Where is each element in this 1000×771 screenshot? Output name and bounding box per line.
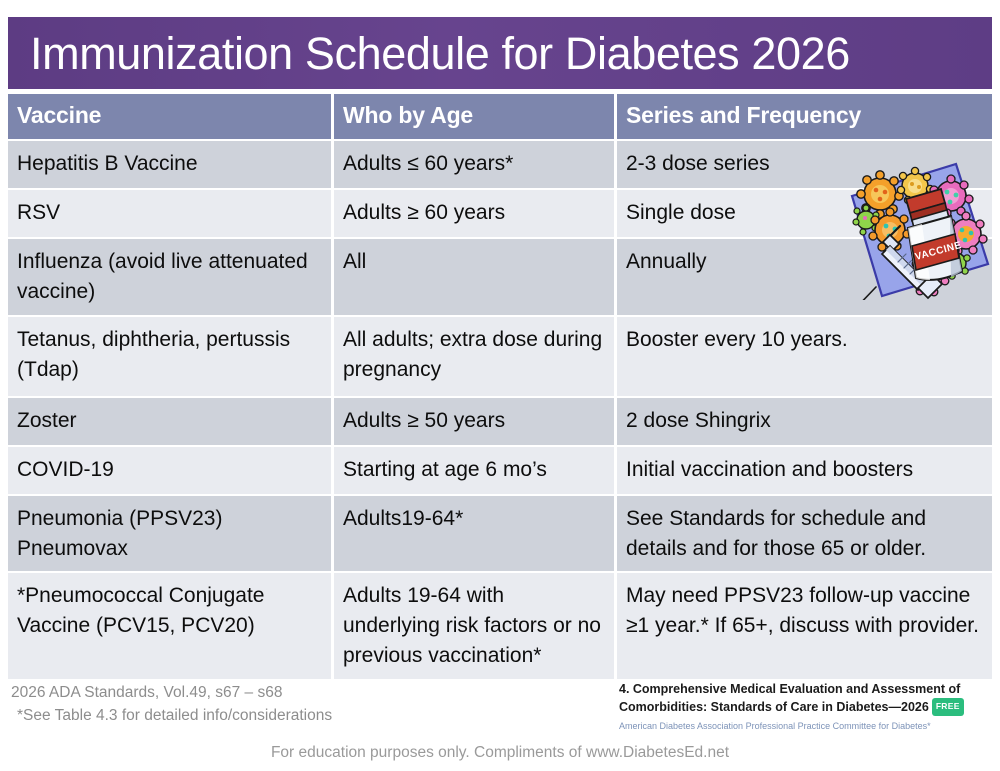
cell-series-and-frequency: See Standards for schedule and details a… xyxy=(617,496,992,571)
cell-vaccine: *Pneumococcal Conjugate Vaccine (PCV15, … xyxy=(8,573,331,679)
cell-vaccine: Zoster xyxy=(8,398,331,445)
cell-vaccine: Influenza (avoid live attenuated vaccine… xyxy=(8,239,331,315)
column-header-who-by-age: Who by Age xyxy=(334,94,614,139)
table-row: Hepatitis B Vaccine Adults ≤ 60 years* 2… xyxy=(8,141,992,188)
immunization-schedule-table: Vaccine Who by Age Series and Frequency … xyxy=(8,94,992,681)
free-badge: FREE xyxy=(932,698,964,716)
ada-reference-title: 4. Comprehensive Medical Evaluation and … xyxy=(619,682,994,716)
cell-who-by-age: Adults 19-64 with underlying risk factor… xyxy=(334,573,614,679)
ada-reference-authors: American Diabetes Association Profession… xyxy=(619,721,994,732)
cell-series-and-frequency: 2-3 dose series xyxy=(617,141,992,188)
cell-who-by-age: Adults19-64* xyxy=(334,496,614,571)
cell-who-by-age: All xyxy=(334,239,614,315)
table-row: Pneumonia (PPSV23) Pneumovax Adults19-64… xyxy=(8,496,992,571)
footer-citation: 2026 ADA Standards, Vol.49, s67 – s68 *S… xyxy=(11,681,332,727)
cell-vaccine: Hepatitis B Vaccine xyxy=(8,141,331,188)
ada-reference-title-text: 4. Comprehensive Medical Evaluation and … xyxy=(619,682,960,714)
cell-who-by-age: Starting at age 6 mo’s xyxy=(334,447,614,494)
footer-citation-line1: 2026 ADA Standards, Vol.49, s67 – s68 xyxy=(11,681,332,704)
table-row: *Pneumococcal Conjugate Vaccine (PCV15, … xyxy=(8,573,992,679)
table-row: COVID-19 Starting at age 6 mo’s Initial … xyxy=(8,447,992,494)
cell-vaccine: Pneumonia (PPSV23) Pneumovax xyxy=(8,496,331,571)
cell-who-by-age: Adults ≥ 50 years xyxy=(334,398,614,445)
table-header-row: Vaccine Who by Age Series and Frequency xyxy=(8,94,992,139)
ada-reference-block: 4. Comprehensive Medical Evaluation and … xyxy=(619,682,994,732)
compliments-line: For education purposes only. Compliments… xyxy=(0,744,1000,762)
cell-series-and-frequency: Annually xyxy=(617,239,992,315)
table-row: Influenza (avoid live attenuated vaccine… xyxy=(8,239,992,315)
cell-series-and-frequency: Single dose xyxy=(617,190,992,237)
cell-series-and-frequency: 2 dose Shingrix xyxy=(617,398,992,445)
column-header-series-and-frequency: Series and Frequency xyxy=(617,94,992,139)
cell-vaccine: Tetanus, diphtheria, pertussis (Tdap) xyxy=(8,317,331,396)
cell-series-and-frequency: May need PPSV23 follow-up vaccine ≥1 yea… xyxy=(617,573,992,679)
table-row: RSV Adults ≥ 60 years Single dose xyxy=(8,190,992,237)
cell-vaccine: COVID-19 xyxy=(8,447,331,494)
cell-who-by-age: Adults ≤ 60 years* xyxy=(334,141,614,188)
cell-vaccine: RSV xyxy=(8,190,331,237)
cell-series-and-frequency: Initial vaccination and boosters xyxy=(617,447,992,494)
footer-citation-line2: *See Table 4.3 for detailed info/conside… xyxy=(11,704,332,727)
column-header-vaccine: Vaccine xyxy=(8,94,331,139)
table-row: Zoster Adults ≥ 50 years 2 dose Shingrix xyxy=(8,398,992,445)
table-row: Tetanus, diphtheria, pertussis (Tdap) Al… xyxy=(8,317,992,396)
page-title: Immunization Schedule for Diabetes 2026 xyxy=(30,31,850,76)
title-banner: Immunization Schedule for Diabetes 2026 xyxy=(8,17,992,89)
cell-who-by-age: Adults ≥ 60 years xyxy=(334,190,614,237)
cell-series-and-frequency: Booster every 10 years. xyxy=(617,317,992,396)
cell-who-by-age: All adults; extra dose during pregnancy xyxy=(334,317,614,396)
